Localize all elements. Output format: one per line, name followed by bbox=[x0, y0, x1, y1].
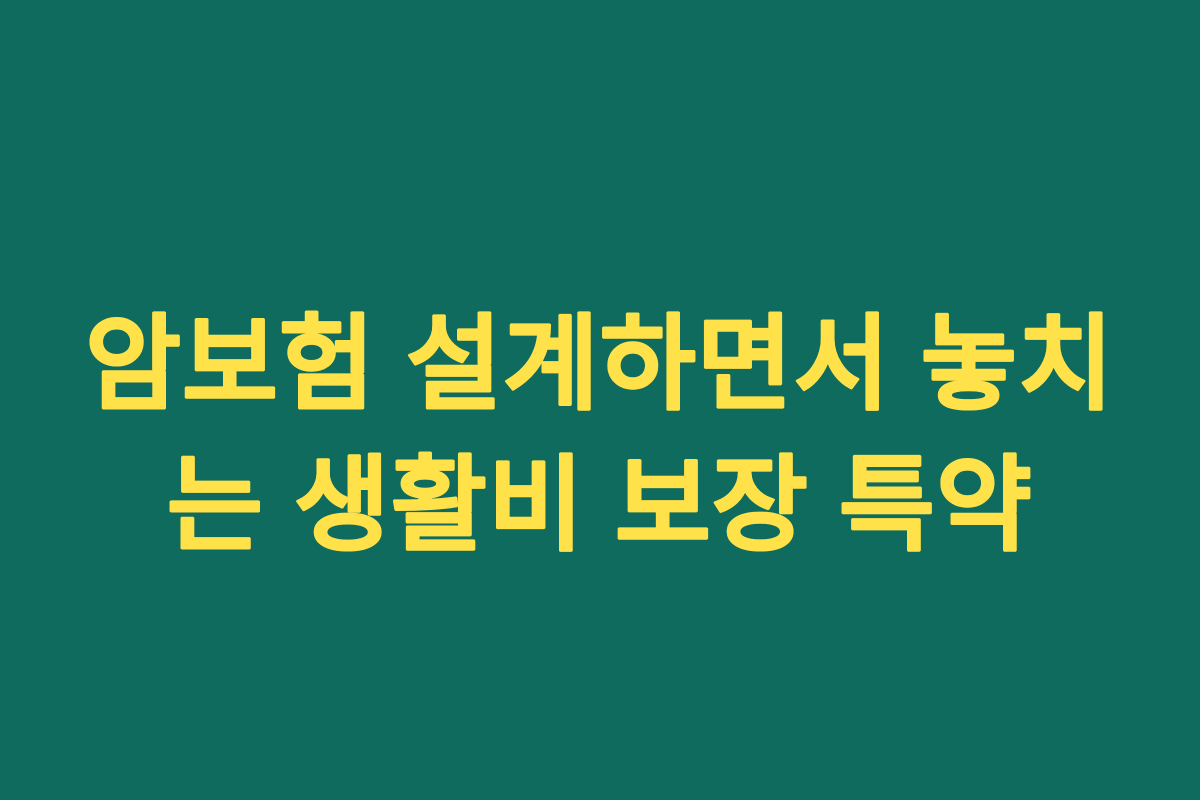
headline-line-2: 는 생활비 보장 특약 bbox=[0, 436, 1200, 577]
headline-line-1: 암보험 설계하면서 놓치 bbox=[0, 295, 1200, 436]
headline-block: 암보험 설계하면서 놓치 는 생활비 보장 특약 bbox=[0, 295, 1200, 577]
banner-canvas: 암보험 설계하면서 놓치 는 생활비 보장 특약 bbox=[0, 0, 1200, 800]
